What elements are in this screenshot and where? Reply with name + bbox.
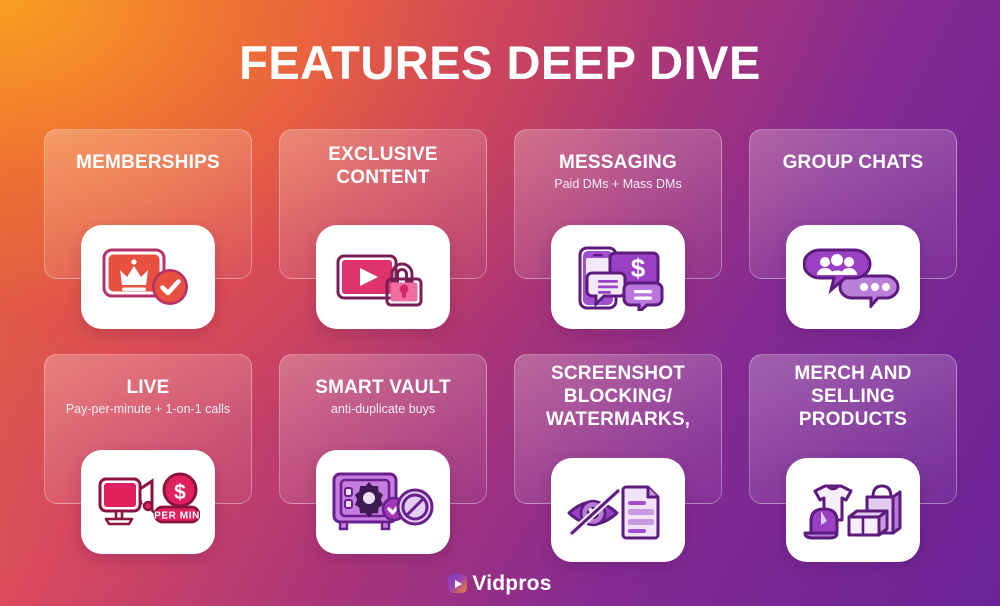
group-chat-bubbles-icon bbox=[803, 246, 903, 308]
video-camera-permin-icon: $ PER MIN bbox=[96, 469, 200, 535]
card-label: EXCLUSIVE CONTENT bbox=[289, 143, 477, 189]
card-title-line-2: BLOCKING/ bbox=[524, 385, 712, 408]
card-title: MESSAGING bbox=[524, 151, 712, 174]
card-label: MERCH AND SELLING PRODUCTS bbox=[759, 362, 947, 431]
card-title-line-3: PRODUCTS bbox=[759, 408, 947, 431]
card-label: MESSAGING Paid DMs + Mass DMs bbox=[524, 151, 712, 192]
svg-text:PER MIN: PER MIN bbox=[154, 511, 200, 522]
card-icon-tile bbox=[81, 225, 215, 329]
card-label: LIVE Pay-per-minute + 1-on-1 calls bbox=[54, 376, 242, 417]
features-grid: MEMBERSHIPS bbox=[44, 129, 956, 573]
card-title-line-1: MERCH AND bbox=[759, 362, 947, 385]
page-title: FEATURES DEEP DIVE bbox=[0, 38, 1000, 88]
card-title-line-2: SELLING bbox=[759, 385, 947, 408]
card-icon-tile bbox=[786, 225, 920, 329]
brand-wordmark: Vidpros bbox=[472, 573, 551, 594]
card-subtitle: Paid DMs + Mass DMs bbox=[524, 177, 712, 192]
feature-card-messaging[interactable]: MESSAGING Paid DMs + Mass DMs $ bbox=[514, 129, 722, 348]
card-label: SCREENSHOT BLOCKING/ WATERMARKS, bbox=[524, 362, 712, 431]
card-title-line-1: SCREENSHOT bbox=[524, 362, 712, 385]
feature-card-merch[interactable]: MERCH AND SELLING PRODUCTS bbox=[749, 354, 957, 573]
card-label: MEMBERSHIPS bbox=[54, 151, 242, 174]
card-title: SMART VAULT bbox=[289, 376, 477, 399]
infographic-canvas: FEATURES DEEP DIVE MEMBERSHIPS bbox=[0, 0, 1000, 606]
feature-card-screenshot-blocking[interactable]: SCREENSHOT BLOCKING/ WATERMARKS, bbox=[514, 354, 722, 573]
eye-slash-document-icon bbox=[566, 479, 670, 541]
crown-card-check-icon bbox=[100, 244, 196, 310]
card-icon-tile: $ bbox=[551, 225, 685, 329]
play-logo-icon bbox=[448, 574, 467, 593]
card-label: GROUP CHATS bbox=[759, 151, 947, 174]
card-title-line-1: EXCLUSIVE bbox=[289, 143, 477, 166]
merch-tshirt-bag-box-icon bbox=[801, 479, 905, 541]
feature-card-exclusive-content[interactable]: EXCLUSIVE CONTENT bbox=[279, 129, 487, 348]
phone-money-chat-icon: $ bbox=[570, 243, 666, 311]
feature-card-group-chats[interactable]: GROUP CHATS bbox=[749, 129, 957, 348]
svg-text:$: $ bbox=[631, 253, 646, 283]
card-subtitle: anti-duplicate buys bbox=[289, 402, 477, 417]
card-title-line-2: CONTENT bbox=[289, 166, 477, 189]
svg-text:$: $ bbox=[174, 481, 186, 504]
card-icon-tile bbox=[316, 450, 450, 554]
card-title: MEMBERSHIPS bbox=[54, 151, 242, 174]
card-title: GROUP CHATS bbox=[759, 151, 947, 174]
video-lock-icon bbox=[335, 244, 431, 310]
card-subtitle: Pay-per-minute + 1-on-1 calls bbox=[54, 402, 242, 417]
feature-card-memberships[interactable]: MEMBERSHIPS bbox=[44, 129, 252, 348]
card-icon-tile bbox=[786, 458, 920, 562]
feature-card-live[interactable]: LIVE Pay-per-minute + 1-on-1 calls bbox=[44, 354, 252, 573]
brand-logo[interactable]: Vidpros bbox=[0, 573, 1000, 594]
card-title: LIVE bbox=[54, 376, 242, 399]
card-icon-tile: $ PER MIN bbox=[81, 450, 215, 554]
card-label: SMART VAULT anti-duplicate buys bbox=[289, 376, 477, 417]
card-icon-tile bbox=[316, 225, 450, 329]
card-title-line-3: WATERMARKS, bbox=[524, 408, 712, 431]
card-icon-tile bbox=[551, 458, 685, 562]
safe-vault-check-block-icon bbox=[331, 470, 435, 534]
feature-card-smart-vault[interactable]: SMART VAULT anti-duplicate buys bbox=[279, 354, 487, 573]
